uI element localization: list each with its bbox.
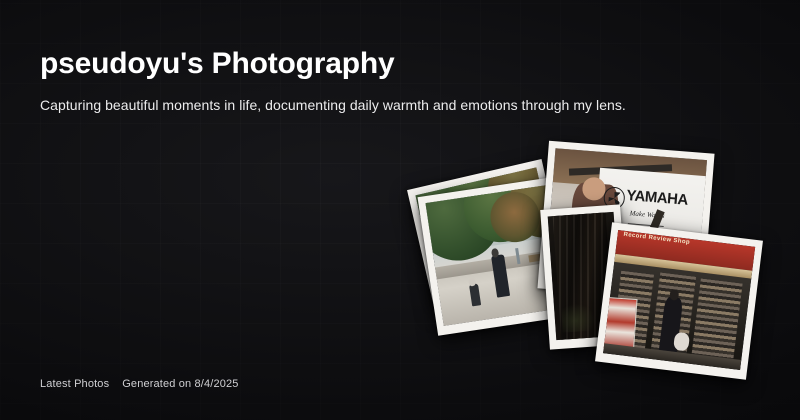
poster-stand — [603, 297, 638, 351]
footer: Latest Photos Generated on 8/4/2025 — [40, 378, 239, 391]
photo-thumbnail-5[interactable]: Record Review Shop — [595, 222, 763, 379]
moss — [560, 303, 596, 333]
page-subtitle: Capturing beautiful moments in life, doc… — [40, 96, 770, 114]
footer-latest-photos-label: Latest Photos — [40, 378, 109, 391]
shop-sign-text: Record Review Shop — [623, 232, 690, 246]
header: pseudoyu's Photography Capturing beautif… — [40, 46, 770, 114]
shop-scene-art: Record Review Shop — [603, 230, 755, 370]
photo-stack: YAMAHA Make Waves AND MUSIC IS FOR EVERY… — [415, 145, 760, 370]
photography-card: pseudoyu's Photography Capturing beautif… — [0, 0, 800, 420]
page-title: pseudoyu's Photography — [40, 46, 770, 82]
footer-generated-on: Generated on 8/4/2025 — [122, 378, 238, 391]
photo-frame: Record Review Shop — [603, 230, 755, 370]
